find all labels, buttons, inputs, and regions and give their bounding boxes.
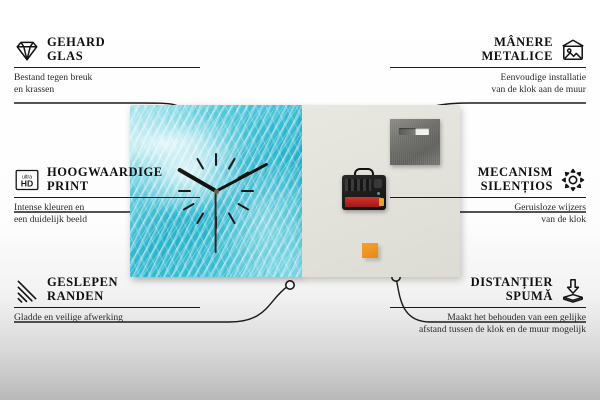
callout-polished-edges: GESLEPEN RANDEN Gladde en veilige afwerk… bbox=[14, 276, 214, 324]
foam-spacer bbox=[362, 243, 378, 258]
second-hand bbox=[215, 191, 217, 253]
callout-rule bbox=[390, 67, 586, 68]
callout-header: ultra HD HOOGWAARDIGE PRINT bbox=[14, 166, 214, 193]
bevel-lines-icon bbox=[14, 277, 40, 303]
callout-title: GESLEPEN RANDEN bbox=[47, 276, 118, 303]
callout-title: DISTANȚIER SPUMĂ bbox=[471, 276, 553, 303]
svg-text:HD: HD bbox=[21, 178, 33, 188]
picture-frame-icon bbox=[560, 37, 586, 63]
callout-header: MÂNERE METALICE bbox=[386, 36, 586, 63]
callout-rule bbox=[390, 307, 586, 308]
callout-title: MECANISM SILENȚIOS bbox=[478, 166, 553, 193]
callout-description: Gladde en veilige afwerking bbox=[14, 312, 214, 324]
ultra-hd-icon: ultra HD bbox=[14, 167, 40, 193]
callout-silent-mechanism: MECANISM SILENȚIOS Geruisloze wijzers va… bbox=[386, 166, 586, 225]
callout-metal-handles: MÂNERE METALICE Eenvoudige installatie v… bbox=[386, 36, 586, 95]
mechanism-indicator bbox=[377, 192, 380, 195]
callout-rule bbox=[14, 307, 200, 308]
callout-description: Eenvoudige installatie van de klok aan d… bbox=[386, 72, 586, 95]
callout-header: GESLEPEN RANDEN bbox=[14, 276, 214, 303]
callout-print-quality: ultra HD HOOGWAARDIGE PRINT Intense kleu… bbox=[14, 166, 214, 225]
down-arrow-onto-surface-icon bbox=[560, 277, 586, 303]
callout-header: GEHARD GLAS bbox=[14, 36, 214, 63]
mechanism-knob bbox=[374, 179, 382, 188]
callout-title: GEHARD GLAS bbox=[47, 36, 105, 63]
callout-rule bbox=[390, 197, 586, 198]
callout-description: Maakt het behouden van een gelijke afsta… bbox=[386, 312, 586, 335]
mechanism-ridges bbox=[345, 179, 371, 191]
callout-rule bbox=[14, 67, 200, 68]
callout-description: Intense kleuren en een duidelijk beeld bbox=[14, 202, 214, 225]
center-pin bbox=[214, 189, 219, 194]
callout-rule bbox=[14, 197, 200, 198]
callout-description: Geruisloze wijzers van de klok bbox=[386, 202, 586, 225]
callout-tempered-glass: GEHARD GLAS Bestand tegen breuk en krass… bbox=[14, 36, 214, 95]
hanger-slot bbox=[399, 128, 429, 135]
mechanism-body bbox=[342, 175, 386, 210]
callout-foam-spacer: DISTANȚIER SPUMĂ Maakt het behouden van … bbox=[386, 276, 586, 335]
metal-hanger-plate bbox=[390, 119, 440, 165]
callout-description: Bestand tegen breuk en krassen bbox=[14, 72, 214, 95]
callout-title: HOOGWAARDIGE PRINT bbox=[47, 166, 163, 193]
infographic-canvas: GEHARD GLAS Bestand tegen breuk en krass… bbox=[0, 0, 600, 400]
callout-title: MÂNERE METALICE bbox=[481, 36, 553, 63]
quartz-mechanism-box bbox=[342, 168, 386, 210]
callout-header: MECANISM SILENȚIOS bbox=[386, 166, 586, 193]
callout-header: DISTANȚIER SPUMĂ bbox=[386, 276, 586, 303]
gear-icon bbox=[560, 167, 586, 193]
anchor-edges bbox=[286, 281, 294, 289]
battery bbox=[345, 197, 381, 207]
diamond-icon bbox=[14, 37, 40, 63]
